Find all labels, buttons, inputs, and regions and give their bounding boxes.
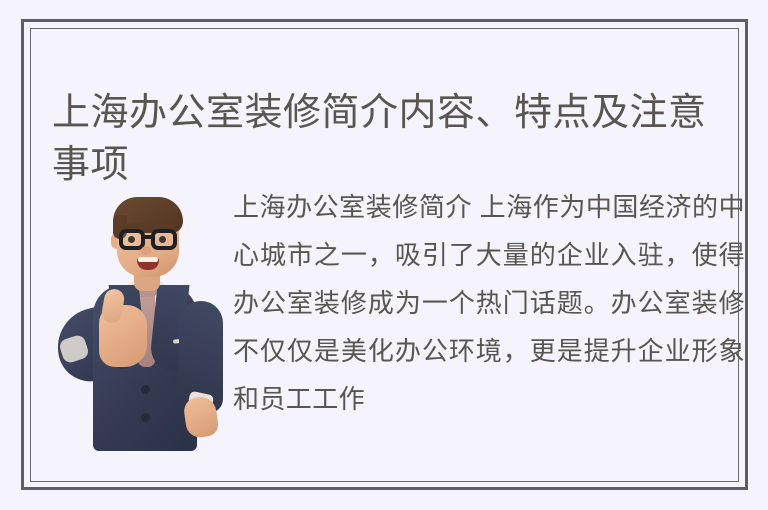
figure-teeth (138, 257, 158, 262)
article-card-frame: 上海办公室装修简介内容、特点及注意事项 (21, 19, 748, 490)
businessman-thumbs-up-illustration (55, 189, 223, 451)
article-body: 上海办公室装修简介 上海作为中国经济的中心城市之一，吸引了大量的企业入驻，使得办… (45, 177, 745, 447)
figure-nose (141, 246, 151, 255)
figure-suit-button-bottom (141, 413, 150, 422)
article-card-inner-border: 上海办公室装修简介内容、特点及注意事项 (30, 28, 739, 482)
page-title: 上海办公室装修简介内容、特点及注意事项 (52, 87, 740, 191)
glasses-icon-right-lens (151, 229, 177, 250)
figure-suit-button-top (141, 385, 150, 394)
glasses-icon-bridge (144, 235, 153, 239)
